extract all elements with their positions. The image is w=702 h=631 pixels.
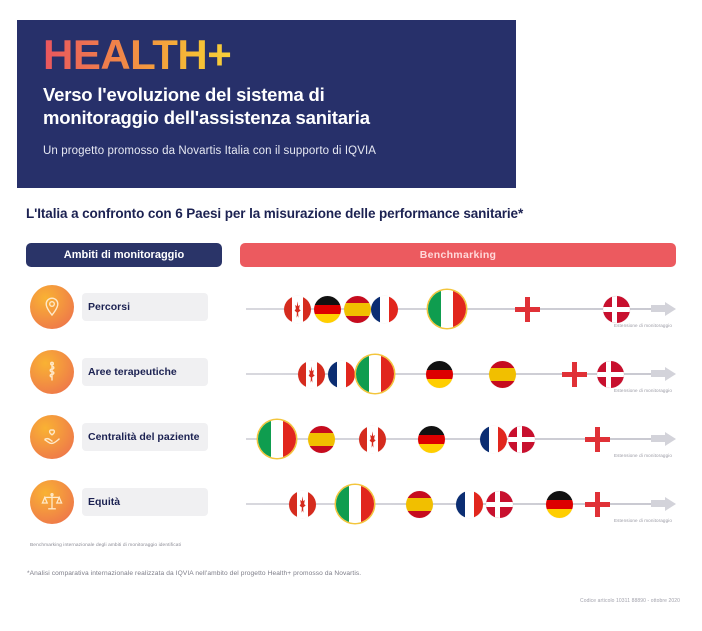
flag-spagna	[489, 361, 516, 388]
footnote-codice-articolo: Codice articolo 10311 88890 - ottobre 20…	[580, 598, 680, 604]
hero-banner: HEALTH+ Verso l'evoluzione del sistema d…	[17, 20, 516, 188]
row-percorsi: Percorsi	[0, 277, 702, 342]
flag-inghilterra	[561, 361, 588, 388]
flag-germania	[546, 491, 573, 518]
row-label-aree-terapeutiche: Aree terapeutiche	[88, 364, 208, 380]
flag-francia	[456, 491, 483, 518]
flag-danimarca	[603, 296, 630, 323]
flag-spagna	[344, 296, 371, 323]
benchmark-track-percorsi: Estensione di monitoraggio	[246, 277, 676, 342]
infographic-page: HEALTH+ Verso l'evoluzione del sistema d…	[0, 0, 702, 631]
track-arrow-icon	[665, 432, 676, 446]
row-label-equita: Equità	[88, 494, 208, 510]
flag-danimarca	[486, 491, 513, 518]
hand-heart-icon	[30, 415, 74, 459]
benchmark-track-equita: Estensione di monitoraggio	[246, 472, 676, 537]
track-cap	[651, 435, 665, 442]
header-left-label: Ambiti di monitoraggio	[64, 249, 184, 261]
flag-danimarca	[508, 426, 535, 453]
flag-italia-highlight	[336, 485, 374, 523]
row-centralita-del-paziente: Centralità del paziente	[0, 407, 702, 472]
hero-subtitle-line1: Verso l'evoluzione del sistema di	[43, 84, 490, 107]
row-label-centralita-del-paziente: Centralità del paziente	[88, 429, 208, 445]
flag-spagna	[406, 491, 433, 518]
hero-note: Un progetto promosso da Novartis Italia …	[43, 145, 490, 157]
axis-extension-label: Estensione di monitoraggio	[614, 388, 672, 393]
flag-italia-highlight	[356, 355, 394, 393]
track-cap	[651, 370, 665, 377]
flag-francia	[371, 296, 398, 323]
benchmark-track-aree-terapeutiche: Estensione di monitoraggio	[246, 342, 676, 407]
flag-francia	[480, 426, 507, 453]
scales-icon	[30, 480, 74, 524]
flag-danimarca	[597, 361, 624, 388]
track-cap	[651, 500, 665, 507]
track-cap	[651, 305, 665, 312]
header-ambiti-di-monitoraggio: Ambiti di monitoraggio	[26, 243, 222, 267]
footnote-benchmarking: Benchmarking internazionale degli ambiti…	[30, 543, 181, 548]
flag-canada	[284, 296, 311, 323]
header-right-label: Benchmarking	[420, 249, 497, 261]
flag-spagna	[308, 426, 335, 453]
footnote-analisi: *Analisi comparativa internazionale real…	[27, 570, 361, 577]
row-label-percorsi: Percorsi	[88, 299, 208, 315]
hero-subtitle-line2: monitoraggio dell'assistenza sanitaria	[43, 107, 490, 130]
caduceus-icon	[30, 350, 74, 394]
axis-extension-label: Estensione di monitoraggio	[614, 453, 672, 458]
flag-inghilterra	[514, 296, 541, 323]
track-arrow-icon	[665, 302, 676, 316]
flag-canada	[289, 491, 316, 518]
flag-canada	[298, 361, 325, 388]
flag-inghilterra	[584, 491, 611, 518]
flag-canada	[359, 426, 386, 453]
track-arrow-icon	[665, 497, 676, 511]
benchmark-track-centralita-del-paziente: Estensione di monitoraggio	[246, 407, 676, 472]
flag-germania	[314, 296, 341, 323]
flag-italia-highlight	[258, 420, 296, 458]
flag-italia-highlight	[428, 290, 466, 328]
flag-francia	[328, 361, 355, 388]
flag-germania	[418, 426, 445, 453]
flag-germania	[426, 361, 453, 388]
rows-container: Percorsi	[0, 277, 702, 537]
section-title: L'Italia a confronto con 6 Paesi per la …	[26, 206, 523, 221]
axis-extension-label: Estensione di monitoraggio	[614, 323, 672, 328]
page-title: HEALTH+	[43, 34, 231, 76]
header-benchmarking: Benchmarking	[240, 243, 676, 267]
row-aree-terapeutiche: Aree terapeutiche	[0, 342, 702, 407]
flag-inghilterra	[584, 426, 611, 453]
row-equita: Equità	[0, 472, 702, 537]
location-pin-icon	[30, 285, 74, 329]
axis-extension-label: Estensione di monitoraggio	[614, 518, 672, 523]
track-arrow-icon	[665, 367, 676, 381]
